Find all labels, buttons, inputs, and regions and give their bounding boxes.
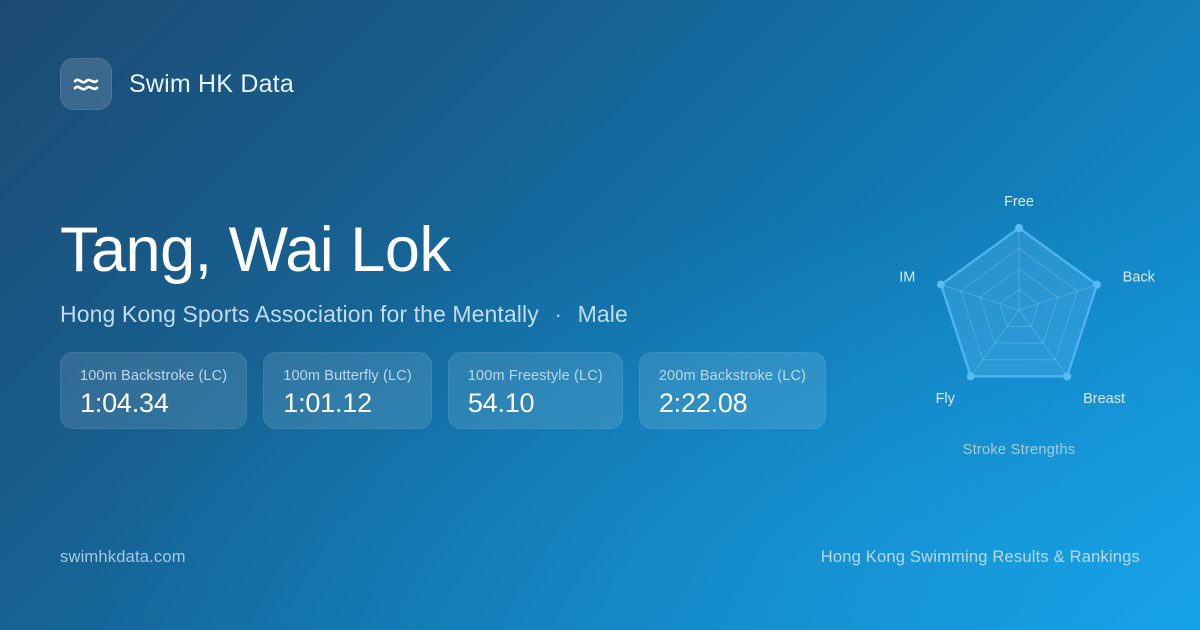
stat-card-label: 100m Freestyle (LC) [468, 368, 603, 384]
radar-axis-label: Breast [1083, 391, 1125, 407]
athlete-gender: Male [578, 301, 628, 327]
stat-card: 200m Backstroke (LC) 2:22.08 [639, 352, 826, 429]
radar-axis-label: IM [899, 269, 915, 285]
best-times-row: 100m Backstroke (LC) 1:04.34 100m Butter… [60, 352, 826, 429]
page-title: Tang, Wai Lok [60, 218, 628, 282]
stat-card-value: 1:01.12 [283, 389, 412, 417]
radar-axis-label: Free [1004, 194, 1034, 210]
radar-data-point [937, 281, 945, 289]
stat-card: 100m Backstroke (LC) 1:04.34 [60, 352, 247, 429]
stat-card-label: 100m Backstroke (LC) [80, 368, 227, 384]
radar-data-point [1093, 281, 1101, 289]
stat-card-label: 100m Butterfly (LC) [283, 368, 412, 384]
radar-data-point [1015, 224, 1023, 232]
chart-caption: Stroke Strengths [859, 442, 1179, 458]
stat-card-value: 2:22.08 [659, 389, 806, 417]
stroke-strengths-chart: FreeBackBreastFlyIM Stroke Strengths [859, 170, 1179, 470]
radar-axis-label: Fly [936, 391, 956, 407]
footer-tagline: Hong Kong Swimming Results & Rankings [821, 548, 1140, 567]
stat-card: 100m Butterfly (LC) 1:01.12 [263, 352, 432, 429]
wave-icon [60, 58, 112, 110]
stat-card-value: 1:04.34 [80, 389, 227, 417]
brand-name: Swim HK Data [129, 70, 294, 99]
radar-axis-label: Back [1123, 269, 1156, 285]
og-card-canvas: Swim HK Data Tang, Wai Lok Hong Kong Spo… [0, 0, 1200, 630]
radar-data-point [967, 372, 975, 380]
athlete-meta: Hong Kong Sports Association for the Men… [60, 301, 628, 328]
stat-card: 100m Freestyle (LC) 54.10 [448, 352, 623, 429]
stat-card-value: 54.10 [468, 389, 603, 417]
brand-header: Swim HK Data [60, 58, 294, 110]
radar-data-polygon [941, 228, 1097, 376]
athlete-club: Hong Kong Sports Association for the Men… [60, 301, 539, 327]
footer-site-url: swimhkdata.com [60, 548, 186, 567]
stat-card-label: 200m Backstroke (LC) [659, 368, 806, 384]
athlete-hero: Tang, Wai Lok Hong Kong Sports Associati… [60, 218, 628, 328]
radar-data-point [1063, 372, 1071, 380]
radar-svg: FreeBackBreastFlyIM [859, 170, 1179, 450]
meta-separator: · [545, 301, 571, 328]
